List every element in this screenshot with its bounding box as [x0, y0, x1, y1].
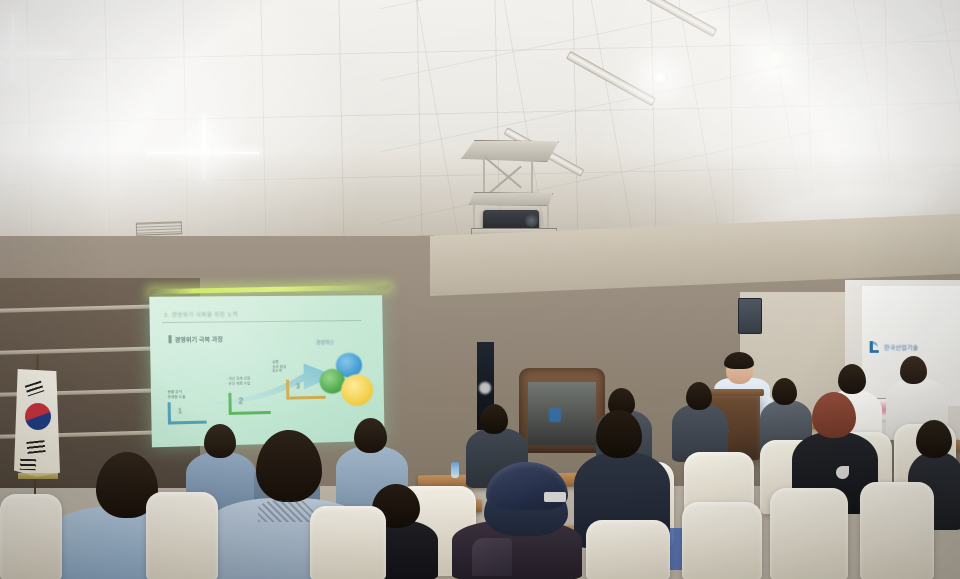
screen-glare: [149, 295, 384, 447]
flag-pole: [36, 355, 39, 371]
banner-logo-text: 한국산업기술: [884, 343, 918, 352]
shoulder-strap: [472, 538, 512, 576]
chair: [0, 494, 62, 579]
wall-loudspeaker: [738, 298, 762, 334]
projector-mount-plate: [469, 192, 553, 206]
trigram: [25, 381, 45, 397]
korean-flag: [12, 355, 64, 490]
audience-head-red-hair: [812, 392, 856, 438]
water-bottle: [451, 462, 459, 478]
chair: [682, 502, 762, 579]
trigram: [20, 459, 36, 471]
audience-head: [686, 382, 712, 410]
audience-head: [204, 424, 236, 458]
audience-head: [772, 378, 797, 405]
company-logo-icon: [868, 340, 881, 355]
projection-screen: 3. 경영위기 극복을 위한 노력 경영위기 극복 과정 경영혁신: [152, 296, 386, 444]
cabinet-glass: [528, 382, 596, 445]
audience-head: [900, 356, 927, 384]
photo-scene: 한국산업기술 3. 경영위기 극복을 위한 노력 경영위기 극복 과정: [0, 0, 960, 579]
chair: [770, 488, 848, 579]
flag-cloth: [14, 369, 60, 477]
recessed-downlight: [652, 70, 668, 85]
flag-fringe: [18, 473, 58, 479]
projector-lens: [525, 214, 538, 227]
audience-head: [838, 364, 866, 394]
chair: [860, 482, 934, 579]
trigram: [26, 440, 45, 454]
audience-head: [480, 404, 508, 434]
recessed-downlight: [765, 47, 787, 69]
taeguk-symbol: [25, 403, 51, 430]
audience-head: [354, 418, 387, 453]
audience-head: [916, 420, 952, 458]
chair: [146, 492, 218, 579]
collar-pattern: [258, 500, 314, 522]
screen-surface: 3. 경영위기 극복을 위한 노력 경영위기 극복 과정 경영혁신: [149, 295, 384, 447]
cap-label-patch: [544, 492, 566, 502]
chair: [310, 506, 386, 579]
presenter-hair: [724, 352, 754, 369]
audience-head: [596, 410, 642, 458]
cabinet-emblem: [549, 408, 561, 422]
projector-scissor-linkage: [483, 156, 535, 198]
wooden-cabinet: [519, 368, 605, 453]
chair: [586, 520, 670, 579]
shirt-logo: [836, 466, 849, 479]
